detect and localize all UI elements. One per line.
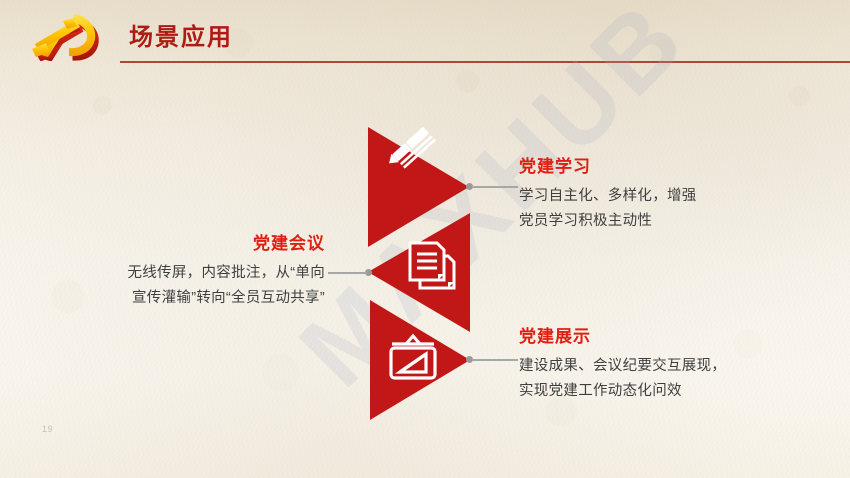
connector-line-learning bbox=[472, 186, 518, 188]
body-display-line2: 实现党建工作动态化问效 bbox=[519, 379, 819, 404]
triangle-display bbox=[370, 300, 470, 420]
body-learning-line1: 学习自主化、多样化，增强 bbox=[519, 184, 819, 209]
slide-canvas: 场景应用 MAXHUB bbox=[0, 0, 850, 478]
header-divider-rule bbox=[120, 61, 850, 63]
presentation-board-icon bbox=[391, 336, 435, 378]
connector-line-display bbox=[472, 359, 518, 361]
page-title: 场景应用 bbox=[129, 23, 233, 53]
header-band bbox=[0, 0, 850, 62]
body-learning-line2: 党员学习积极主动性 bbox=[519, 209, 819, 234]
triangle-learning bbox=[368, 127, 469, 247]
body-display-line1: 建设成果、会议纪要交互展现， bbox=[519, 354, 819, 379]
documents-icon bbox=[410, 243, 454, 288]
connector-line-meeting bbox=[328, 272, 367, 274]
text-block-learning: 党建学习 学习自主化、多样化，增强 党员学习积极主动性 bbox=[519, 155, 819, 234]
heading-meeting: 党建会议 bbox=[60, 232, 325, 256]
heading-display: 党建展示 bbox=[519, 325, 819, 349]
text-block-display: 党建展示 建设成果、会议纪要交互展现， 实现党建工作动态化问效 bbox=[519, 325, 819, 404]
text-block-meeting: 党建会议 无线传屏，内容批注，从“单向 宣传灌输”转向“全员互动共享” bbox=[60, 232, 325, 311]
body-meeting-line1: 无线传屏，内容批注，从“单向 bbox=[60, 261, 325, 286]
heading-learning: 党建学习 bbox=[519, 155, 819, 179]
triangle-meeting bbox=[368, 213, 470, 332]
page-number: 19 bbox=[42, 424, 53, 434]
pencil-icon bbox=[385, 126, 436, 174]
hammer-and-sickle-emblem bbox=[26, 11, 108, 61]
body-meeting-line2: 宣传灌输”转向“全员互动共享” bbox=[60, 286, 325, 311]
